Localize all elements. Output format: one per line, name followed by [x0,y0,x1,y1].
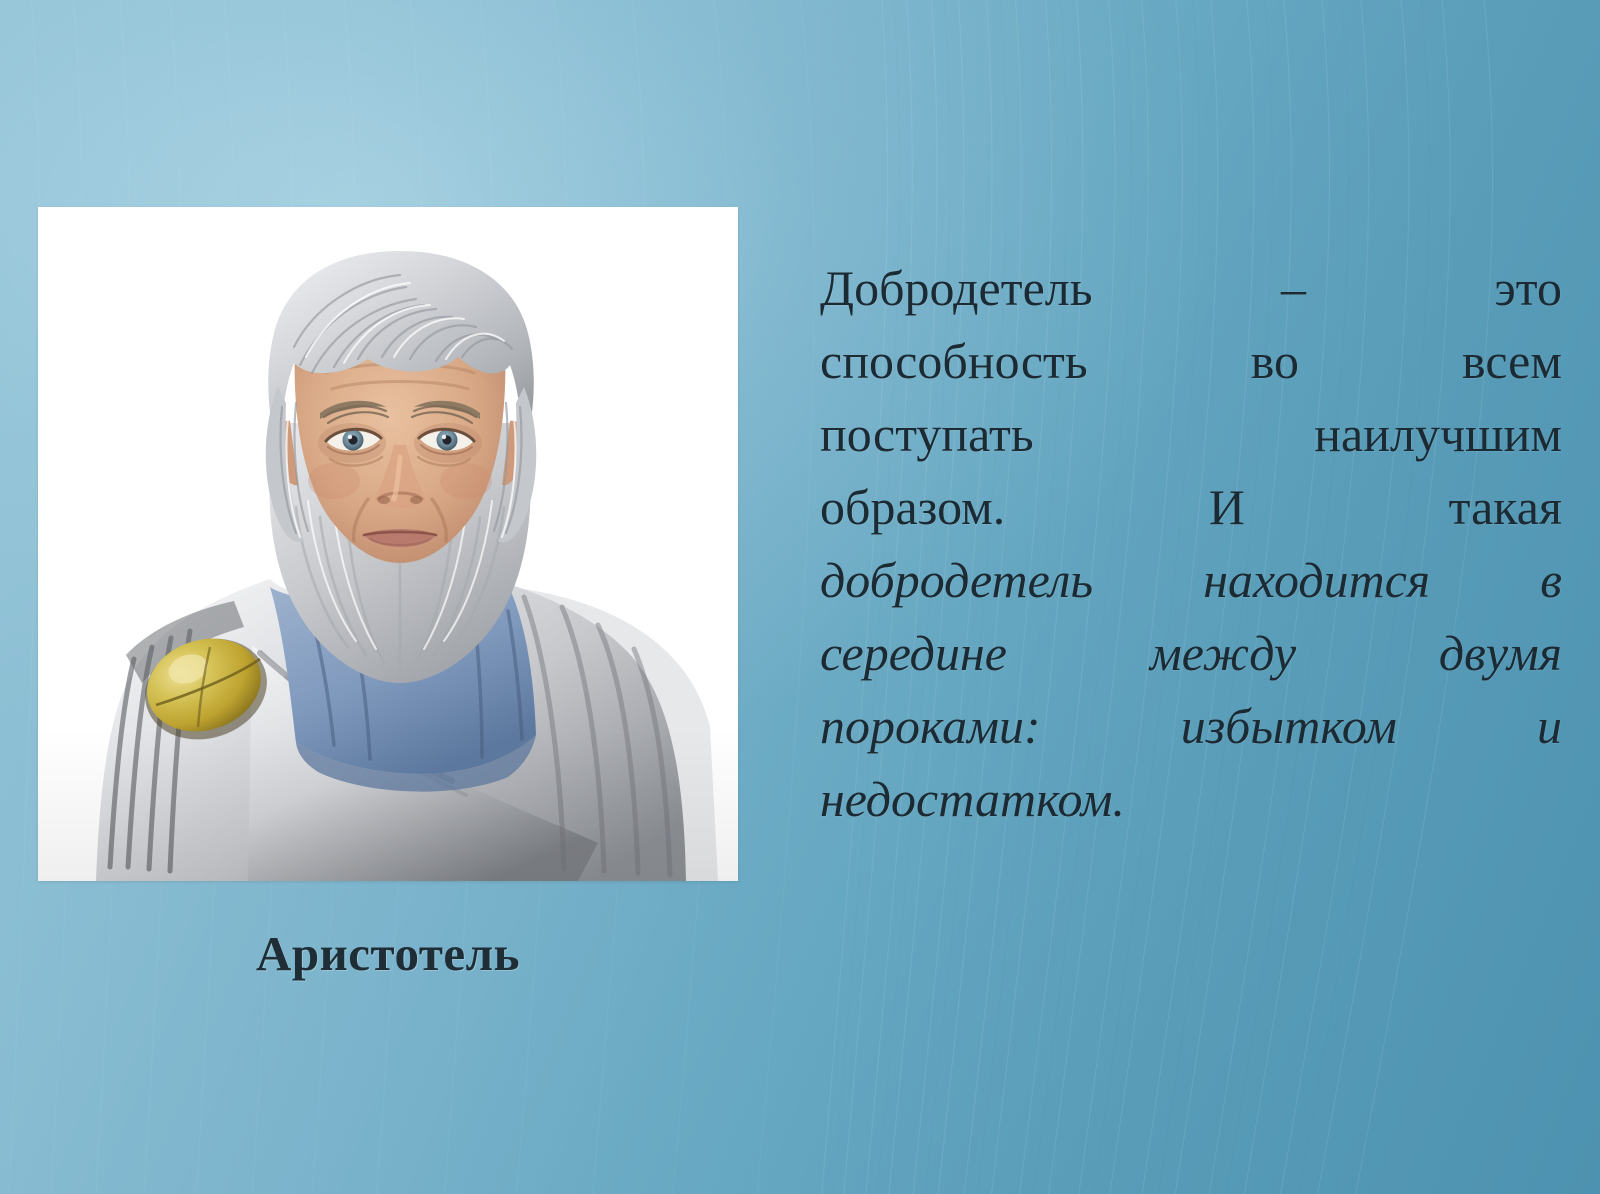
quote-word: пороками: [820,690,1041,763]
quote-word: Добродетель [820,252,1093,325]
quote-word: образом. [820,471,1005,544]
presentation-slide: Аристотель Добродетель–этоспособностьвов… [0,0,1600,1194]
quote-word: и [1537,690,1562,763]
quote-word: – [1281,252,1306,325]
quote-word: избытком [1181,690,1397,763]
quote-line: добродетельнаходитсяв [820,544,1562,617]
quote-word: это [1494,252,1562,325]
quote-word: двумя [1439,617,1562,690]
quote-word: наилучшим [1314,398,1562,471]
portrait-caption: Аристотель [38,925,738,982]
quote-word: всем [1462,325,1562,398]
quote-line: пороками:избыткоми [820,690,1562,763]
quote-word: добродетель [820,544,1093,617]
quote-word: в [1540,544,1562,617]
quote-word: недостатком. [820,763,1125,836]
quote-text-block: Добродетель–этоспособностьвовсемпоступат… [820,252,1562,836]
quote-word: И [1209,471,1245,544]
aristotle-portrait-illustration [38,207,738,881]
quote-word: способность [820,325,1088,398]
quote-word: находится [1203,544,1430,617]
quote-word: поступать [820,398,1034,471]
quote-word: середине [820,617,1007,690]
quote-line: недостатком. [820,763,1562,836]
quote-line: поступатьнаилучшим [820,398,1562,471]
quote-line: образом.Итакая [820,471,1562,544]
portrait-photo-frame [38,207,738,881]
quote-word: между [1150,617,1296,690]
quote-line: серединемеждудвумя [820,617,1562,690]
quote-word: такая [1449,471,1562,544]
quote-line: способностьвовсем [820,325,1562,398]
quote-word: во [1251,325,1299,398]
quote-line: Добродетель–это [820,252,1562,325]
